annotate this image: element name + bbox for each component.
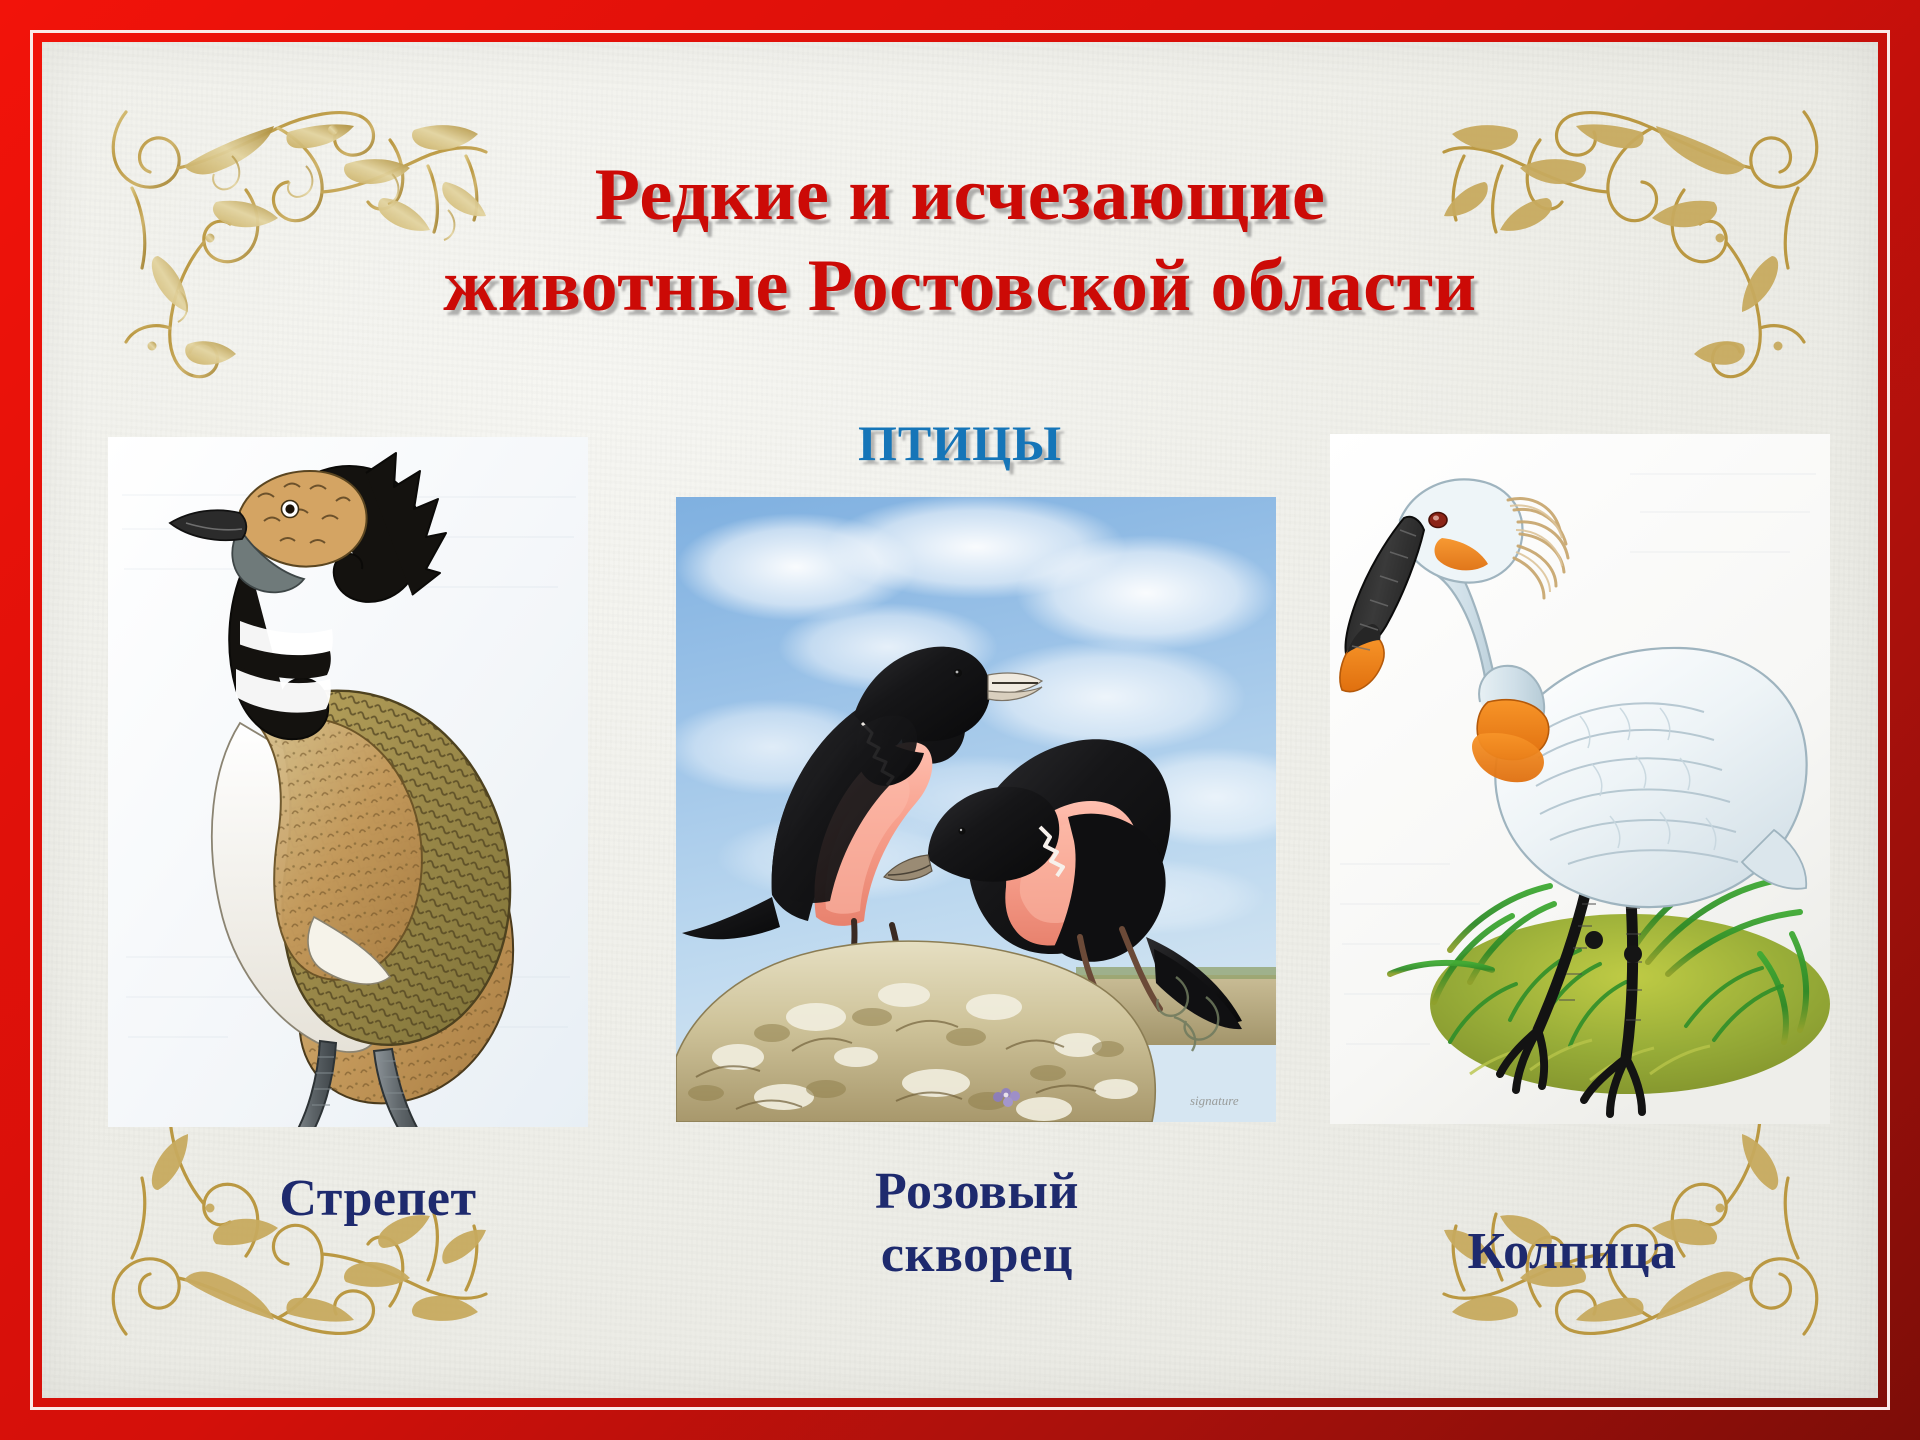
page-title-line2: животные Ростовской области	[242, 241, 1678, 332]
slide-page: Редкие и исчезающие животные Ростовской …	[42, 42, 1878, 1398]
page-title: Редкие и исчезающие животные Ростовской …	[42, 150, 1878, 332]
bird-caption-strepet: Стрепет	[168, 1167, 588, 1230]
bird-image-kolpica	[1330, 434, 1830, 1124]
bird-caption-kolpica: Колпица	[1332, 1220, 1812, 1283]
svg-text:signature: signature	[1190, 1093, 1239, 1108]
bird-caption-skvorec-line1: Розовый	[742, 1160, 1212, 1223]
bird-caption-skvorec-line2: скворец	[742, 1223, 1212, 1286]
bird-image-skvorec: signature	[676, 497, 1276, 1122]
page-title-line1: Редкие и исчезающие	[242, 150, 1678, 241]
bird-image-strepet	[108, 437, 588, 1127]
slide-root: Редкие и исчезающие животные Ростовской …	[0, 0, 1920, 1440]
bird-caption-skvorec: Розовый скворец	[742, 1160, 1212, 1287]
